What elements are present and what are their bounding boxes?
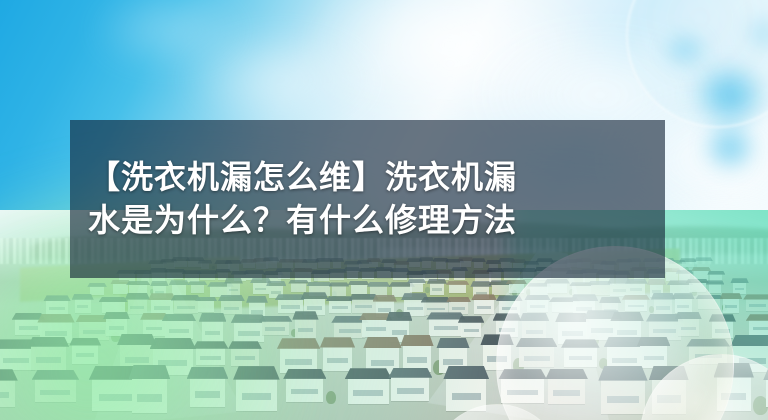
title-line-1: 【洗衣机漏怎么维】洗衣机漏 xyxy=(88,156,647,199)
title-overlay-box: 【洗衣机漏怎么维】洗衣机漏 水是为什么？有什么修理方法 xyxy=(70,120,665,278)
title-line-2: 水是为什么？有什么修理方法 xyxy=(88,199,647,242)
banner-image: 【洗衣机漏怎么维】洗衣机漏 水是为什么？有什么修理方法 xyxy=(0,0,768,420)
